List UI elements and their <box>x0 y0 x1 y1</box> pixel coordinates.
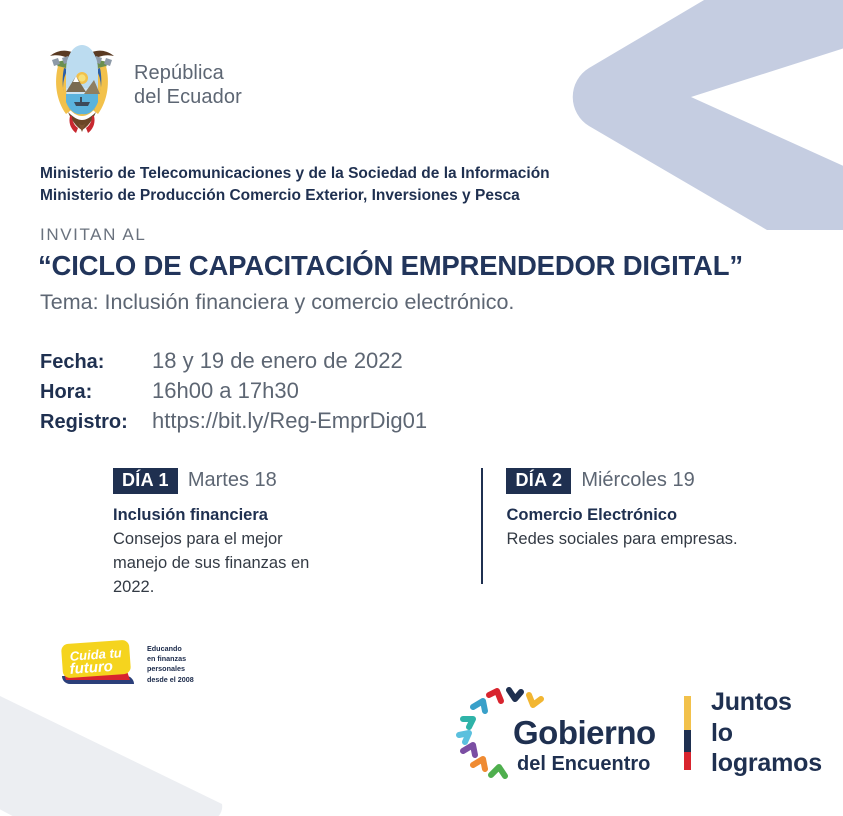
republic-line-1: República <box>134 62 224 84</box>
ministries-block: Ministerio de Telecomunicaciones y de la… <box>40 163 550 207</box>
detail-row-fecha: Fecha: 18 y 19 de enero de 2022 <box>40 348 427 378</box>
detail-label-hora: Hora: <box>40 381 152 404</box>
day-1-description: Consejos para el mejor manejo de sus fin… <box>113 528 338 600</box>
gobierno-wordmark-icon: Gobierno del Encuentro <box>455 681 680 785</box>
republic-line-2: del Ecuador <box>134 86 242 108</box>
chevron-decoration-icon <box>571 0 843 230</box>
day-column-1: DÍA 1 Martes 18 Inclusión financiera Con… <box>113 468 465 600</box>
event-details: Fecha: 18 y 19 de enero de 2022 Hora: 16… <box>40 348 427 438</box>
detail-label-fecha: Fecha: <box>40 351 152 374</box>
day-2-description: Redes sociales para empresas. <box>506 528 806 552</box>
svg-text:del Encuentro: del Encuentro <box>517 753 650 775</box>
ecuador-flag-divider-icon <box>684 696 691 770</box>
day-2-date: Miércoles 19 <box>581 469 694 492</box>
poster-canvas: República del Ecuador Ministerio de Tele… <box>0 0 843 816</box>
cuida-tu-futuro-logo: Cuida tu futuro Educando en finanzas per… <box>60 640 194 688</box>
svg-text:Gobierno: Gobierno <box>513 714 656 751</box>
days-section: DÍA 1 Martes 18 Inclusión financiera Con… <box>113 468 813 600</box>
day-2-topic: Comercio Electrónico <box>506 506 813 525</box>
day-1-date: Martes 18 <box>188 469 277 492</box>
gobierno-slogan: Juntos lo logramos <box>711 687 843 779</box>
ministry-line-2: Ministerio de Producción Comercio Exteri… <box>40 185 550 207</box>
page-title: “CICLO DE CAPACITACIÓN EMPRENDEDOR DIGIT… <box>38 250 743 282</box>
day-2-header: DÍA 2 Miércoles 19 <box>506 468 813 494</box>
detail-label-registro: Registro: <box>40 411 152 434</box>
detail-value-fecha: 18 y 19 de enero de 2022 <box>152 348 403 374</box>
svg-text:futuro: futuro <box>69 658 113 678</box>
day-column-2: DÍA 2 Miércoles 19 Comercio Electrónico … <box>465 468 813 600</box>
day-2-badge: DÍA 2 <box>506 468 571 494</box>
republic-header: República del Ecuador <box>40 36 242 136</box>
cuida-tu-futuro-badge-icon: Cuida tu futuro <box>60 640 140 688</box>
day-1-topic: Inclusión financiera <box>113 506 465 525</box>
gobierno-del-encuentro-logo: Gobierno del Encuentro Juntos lo logramo… <box>455 681 843 785</box>
event-topic: Tema: Inclusión financiera y comercio el… <box>40 290 514 315</box>
ministry-line-1: Ministerio de Telecomunicaciones y de la… <box>40 163 550 185</box>
republic-label: República del Ecuador <box>134 62 242 109</box>
day-1-header: DÍA 1 Martes 18 <box>113 468 465 494</box>
diagonal-band-decoration-icon <box>0 692 260 816</box>
cuida-tu-futuro-tagline: Educando en finanzas personales desde el… <box>147 644 194 685</box>
day-1-badge: DÍA 1 <box>113 468 178 494</box>
detail-value-hora: 16h00 a 17h30 <box>152 378 299 404</box>
detail-row-registro: Registro: https://bit.ly/Reg-EmprDig01 <box>40 408 427 438</box>
ecuador-coat-of-arms-icon <box>40 36 124 136</box>
registration-link[interactable]: https://bit.ly/Reg-EmprDig01 <box>152 408 427 434</box>
invitation-intro: INVITAN AL <box>40 225 146 245</box>
detail-row-hora: Hora: 16h00 a 17h30 <box>40 378 427 408</box>
